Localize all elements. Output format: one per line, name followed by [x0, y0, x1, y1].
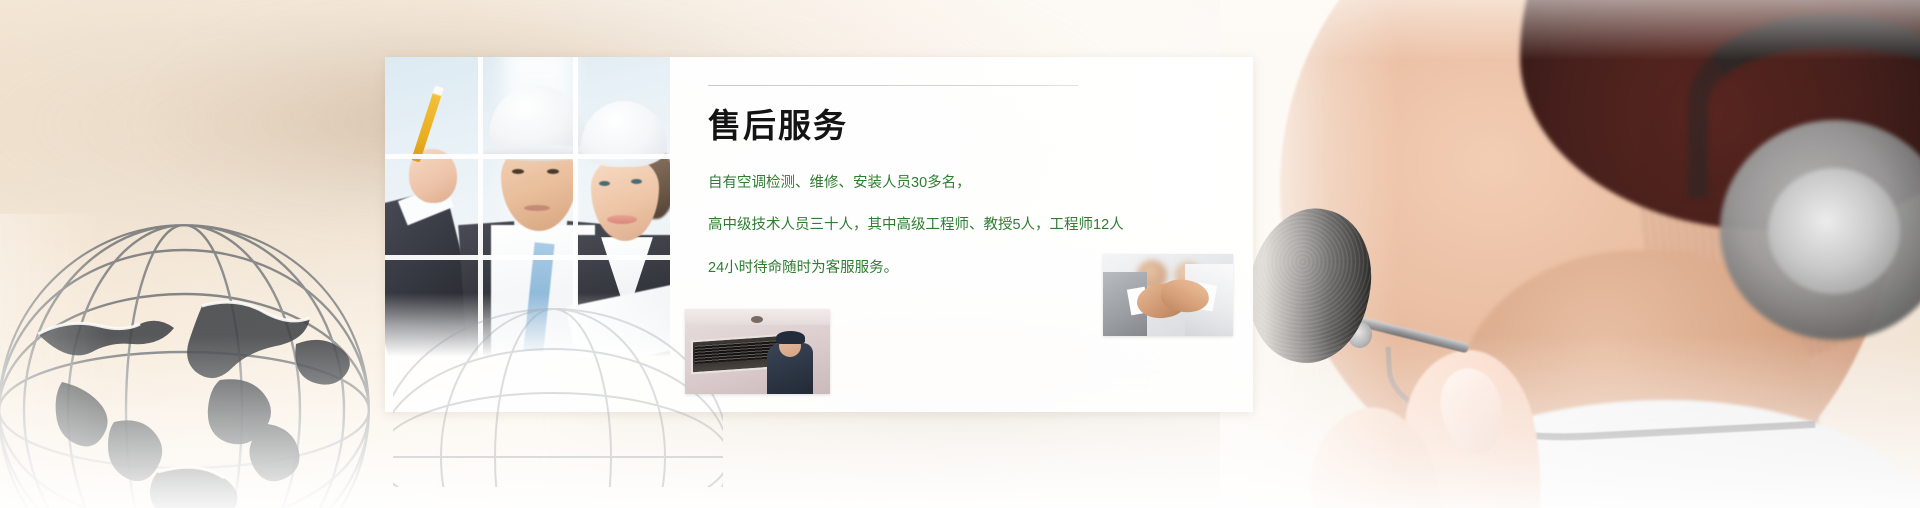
- description-line-2: 高中级技术人员三十人，其中高级工程师、教授5人，工程师12人: [708, 216, 1208, 234]
- description-line-1: 自有空调检测、维修、安装人员30多名，: [708, 174, 1208, 192]
- card-text-column: 售后服务 自有空调检测、维修、安装人员30多名， 高中级技术人员三十人，其中高级…: [708, 85, 1208, 277]
- title-divider: [708, 85, 1078, 86]
- handshake-thumbnail: [1103, 254, 1233, 336]
- card-globe-watermark: [393, 307, 723, 487]
- page-title: 售后服务: [708, 108, 1208, 144]
- headset-earcup-inner: [1768, 168, 1900, 294]
- photo-top-fade: [1220, 0, 1920, 60]
- service-banner: 售后服务 自有空调检测、维修、安装人员30多名， 高中级技术人员三十人，其中高级…: [0, 0, 1920, 508]
- technician-cap: [776, 331, 805, 344]
- ceiling-sensor-icon: [751, 316, 763, 323]
- ac-technician-thumbnail: [685, 309, 830, 394]
- content-card: 售后服务 自有空调检测、维修、安装人员30多名， 高中级技术人员三十人，其中高级…: [385, 57, 1253, 412]
